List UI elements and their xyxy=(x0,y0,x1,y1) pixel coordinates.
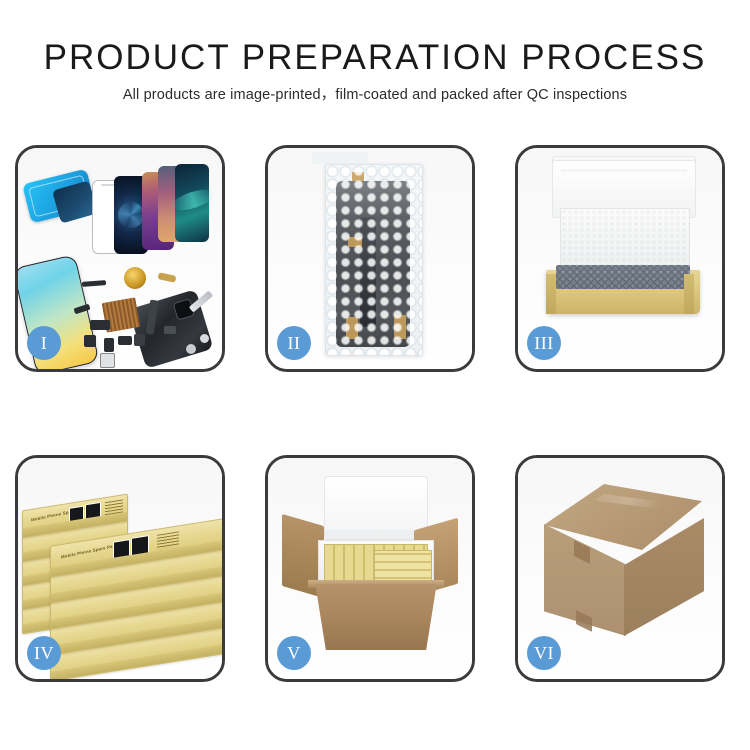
step-badge-1: I xyxy=(27,326,61,360)
phone-teal-display xyxy=(175,164,209,242)
step-badge-4: IV xyxy=(27,636,61,670)
step-badge-3: III xyxy=(527,326,561,360)
phone-large-display xyxy=(15,254,100,372)
kraft-box-body xyxy=(546,270,700,314)
foam-box-lid xyxy=(324,476,428,540)
tape-strip xyxy=(352,172,364,181)
spare-part xyxy=(157,272,176,283)
gold-coil-component xyxy=(124,267,146,289)
panel-step-3[interactable]: III xyxy=(515,145,725,372)
spare-part xyxy=(84,335,96,347)
spare-part xyxy=(118,336,132,345)
bag-seal xyxy=(312,152,368,164)
tape-strip xyxy=(346,317,358,339)
spare-part xyxy=(134,334,145,346)
panel-step-5[interactable]: V xyxy=(265,455,475,682)
box-right-flap xyxy=(684,274,694,314)
spare-part xyxy=(104,338,114,352)
carton-front-panel xyxy=(310,584,442,650)
retail-box-label: Mobile Phone Spare Parts xyxy=(61,542,119,559)
page-header: PRODUCT PREPARATION PROCESS All products… xyxy=(0,0,750,104)
tape-strip xyxy=(394,315,406,339)
step-badge-6: VI xyxy=(527,636,561,670)
spare-part xyxy=(82,280,106,287)
panel-step-2[interactable]: II xyxy=(265,145,475,372)
process-panel-grid: I II III xyxy=(0,0,750,750)
step-badge-2: II xyxy=(277,326,311,360)
panel-step-4[interactable]: Mobile Phone Spare Parts Mobile Phone Sp… xyxy=(15,455,225,682)
step-badge-5: V xyxy=(277,636,311,670)
tape-strip xyxy=(348,237,362,247)
panel-step-6[interactable]: VI xyxy=(515,455,725,682)
panel-step-1[interactable]: I xyxy=(15,145,225,372)
spare-part xyxy=(100,353,115,368)
bubble-wrap-bag xyxy=(325,164,423,356)
box-left-flap xyxy=(546,274,556,314)
spare-part xyxy=(164,326,176,334)
spare-part xyxy=(200,334,209,343)
page-title: PRODUCT PREPARATION PROCESS xyxy=(0,38,750,78)
flex-cable xyxy=(360,217,376,327)
spare-part xyxy=(90,320,110,330)
bubble-film-insert xyxy=(556,265,690,289)
spare-part xyxy=(186,344,196,354)
page-subtitle: All products are image-printed，film-coat… xyxy=(0,86,750,104)
